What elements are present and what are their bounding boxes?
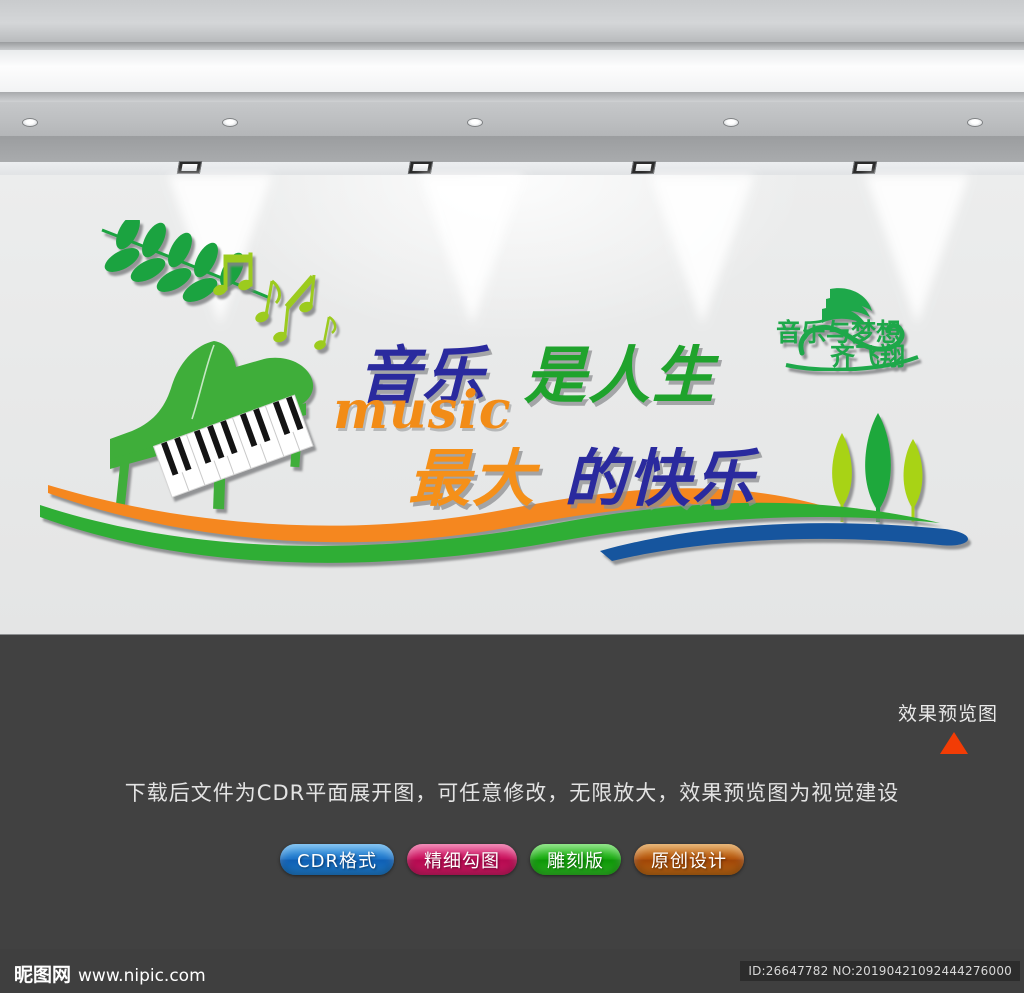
downlight-icon xyxy=(723,118,739,127)
info-panel: 效果预览图 下载后文件为CDR平面展开图，可任意修改，无限放大，效果预览图为视觉… xyxy=(0,634,1024,949)
headline-part-3: 最大 xyxy=(408,428,536,518)
headline-part-2: 是人生 xyxy=(524,325,716,415)
badge-engraved[interactable]: 雕刻版 xyxy=(530,844,621,875)
headline-group: 音乐 是人生 music 最大 的快乐 xyxy=(0,175,1024,634)
spotlight-fixture-icon xyxy=(631,161,656,174)
spotlight-fixture-icon xyxy=(177,161,202,174)
preview-label: 效果预览图 xyxy=(898,699,998,726)
badge-row: CDR格式 精细勾图 雕刻版 原创设计 xyxy=(0,844,1024,875)
wall-mural-scene: 音乐与梦想 齐飞翔 音乐 是人生 music 最大 的快乐 xyxy=(0,0,1024,634)
badge-cdr-format[interactable]: CDR格式 xyxy=(280,844,394,875)
footer-bar: 昵图网 www.nipic.com ID:26647782 NO:2019042… xyxy=(0,949,1024,993)
ceiling-band-2 xyxy=(0,42,1024,50)
downlight-icon xyxy=(22,118,38,127)
brand-name-cn: 昵图网 xyxy=(14,960,71,987)
downlight-icon xyxy=(222,118,238,127)
preview-arrow-icon xyxy=(940,732,968,754)
site-brand[interactable]: 昵图网 www.nipic.com xyxy=(14,960,206,987)
downlight-icon xyxy=(467,118,483,127)
ceiling-band-3 xyxy=(0,50,1024,92)
panel-description: 下载后文件为CDR平面展开图，可任意修改，无限放大，效果预览图为视觉建设 xyxy=(0,777,1024,807)
ceiling-assembly xyxy=(0,0,1024,175)
headline-part-4: 的快乐 xyxy=(564,428,756,518)
badge-fine-outline[interactable]: 精细勾图 xyxy=(407,844,517,875)
image-id-tag: ID:26647782 NO:20190421092444276000 xyxy=(740,961,1020,981)
downlight-icon xyxy=(967,118,983,127)
badge-original-design[interactable]: 原创设计 xyxy=(634,844,744,875)
panel-divider xyxy=(0,634,1024,635)
ceiling-band-1 xyxy=(0,0,1024,42)
spotlight-fixture-icon xyxy=(408,161,433,174)
spotlight-fixture-icon xyxy=(852,161,877,174)
brand-url: www.nipic.com xyxy=(78,966,206,986)
ceiling-band-4 xyxy=(0,92,1024,102)
ceiling-band-5 xyxy=(0,102,1024,136)
ceiling-band-6 xyxy=(0,136,1024,162)
